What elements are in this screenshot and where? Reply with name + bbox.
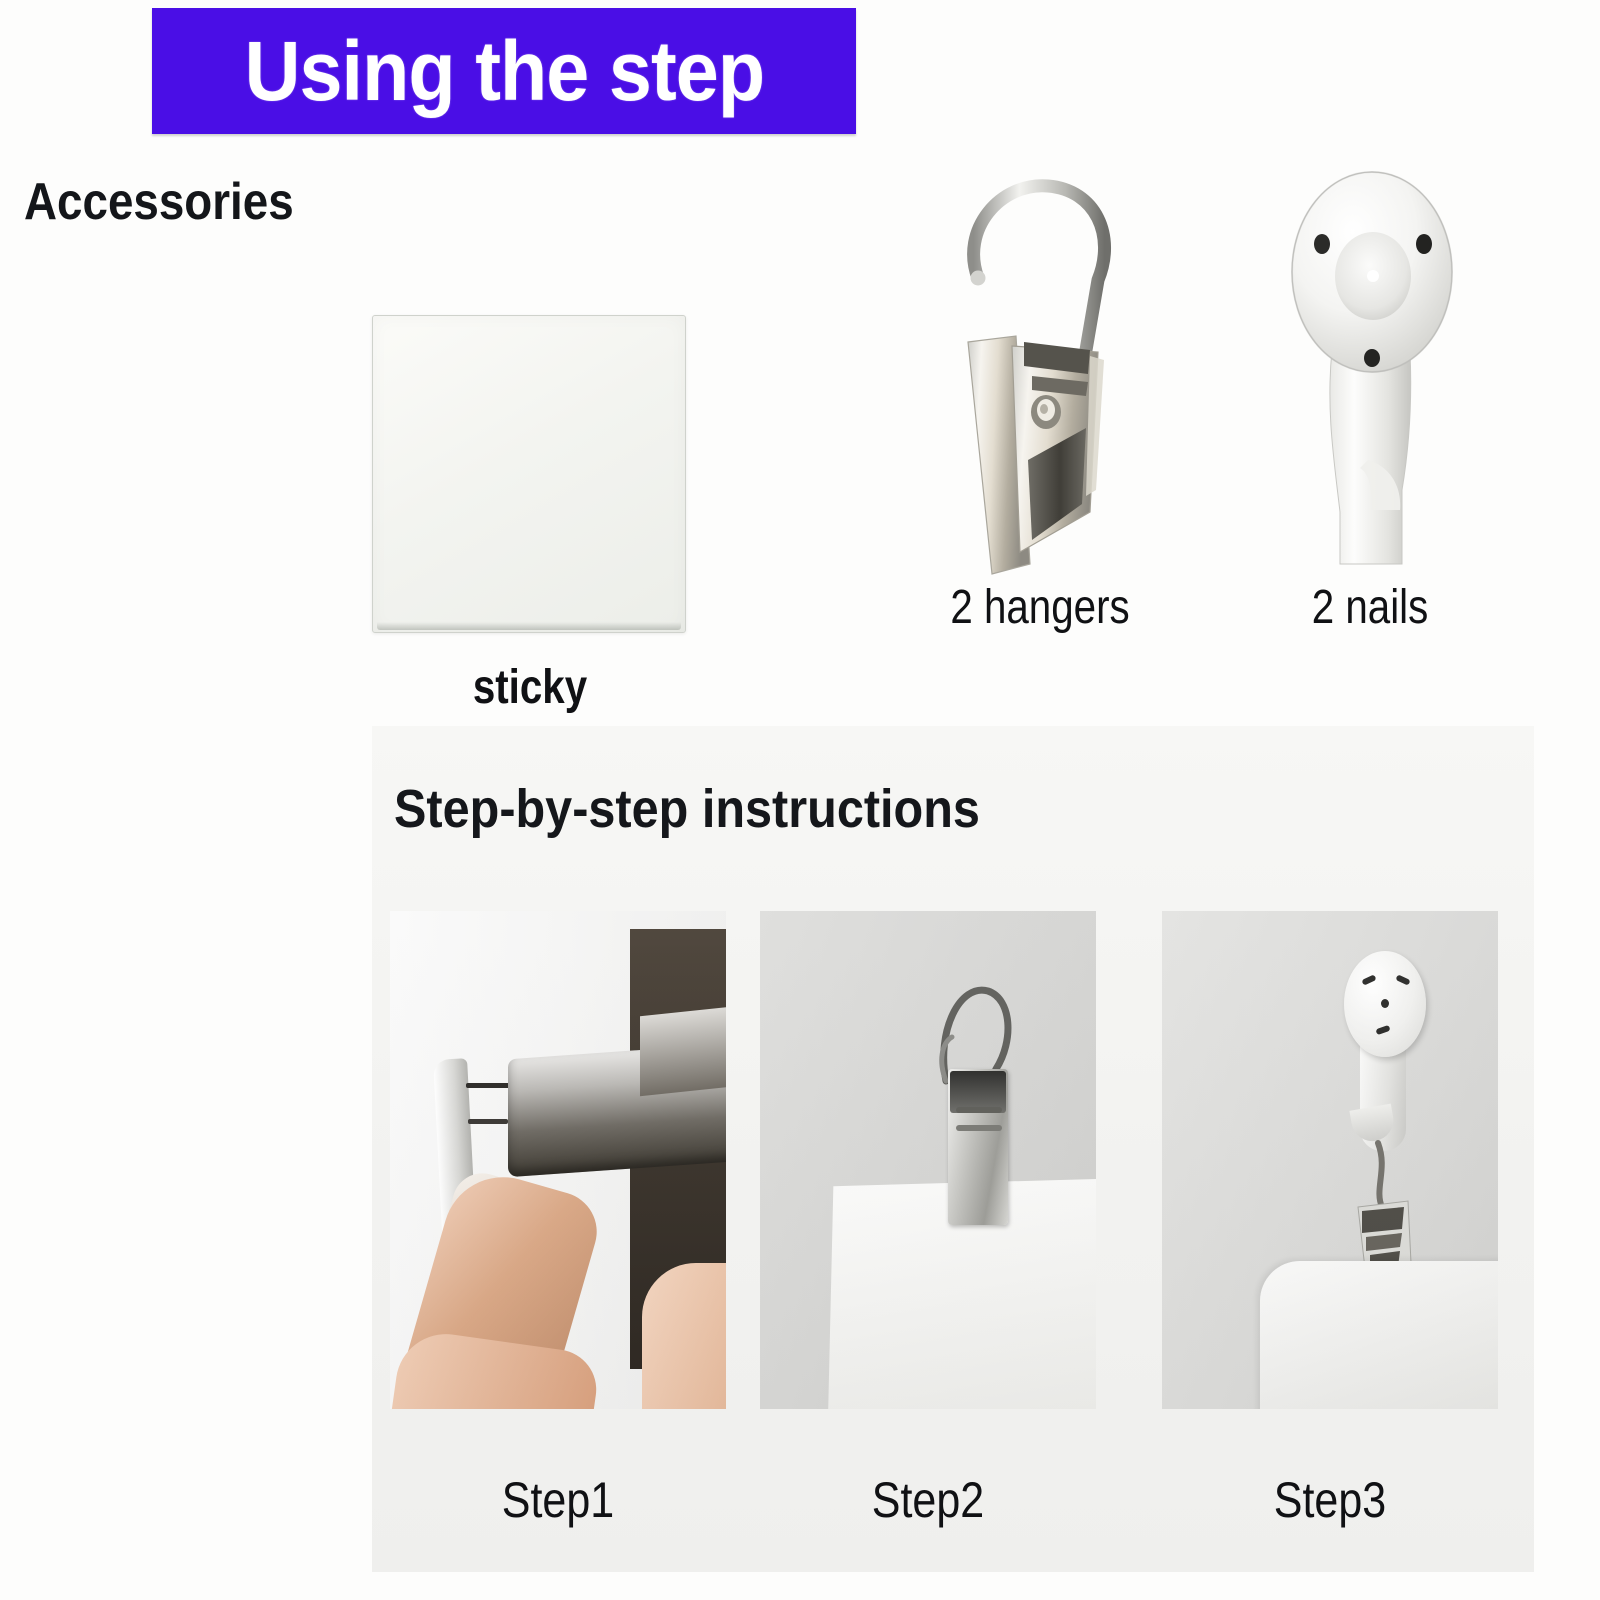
accessory-caption-sticky: sticky: [362, 660, 698, 715]
instructions-heading: Step-by-step instructions: [394, 778, 980, 840]
hanging-fabric: [1260, 1261, 1498, 1409]
step-item-3: Step3: [1162, 911, 1498, 1409]
white-wall-hook-icon: [1260, 160, 1490, 590]
accessory-caption-hangers: 2 hangers: [889, 580, 1191, 635]
step-1-photo: [390, 911, 726, 1409]
step-2-photo: [760, 911, 1096, 1409]
step-item-2: Step2: [760, 911, 1096, 1409]
accessory-caption-nails: 2 nails: [1219, 580, 1521, 635]
finger: [642, 1263, 726, 1409]
title-banner: Using the step: [152, 8, 856, 134]
accessory-item-sticky: sticky: [330, 230, 730, 650]
step-3-photo: [1162, 911, 1498, 1409]
accessory-item-hangers: 2 hangers: [860, 150, 1220, 670]
hammer-handle: [640, 1006, 726, 1097]
accessory-item-nails: 2 nails: [1190, 150, 1550, 670]
adhesive-pad-icon: [372, 315, 686, 633]
accessories-row: sticky: [0, 150, 1600, 670]
step-caption-1: Step1: [414, 1471, 703, 1529]
clip-slot: [956, 1125, 1002, 1131]
nail-icon: [468, 1119, 508, 1124]
steps-row: Step1 Step2: [372, 911, 1534, 1571]
metal-clip-hanger-icon: [920, 160, 1160, 600]
clip-slot: [956, 1107, 1002, 1113]
step-caption-2: Step2: [784, 1471, 1073, 1529]
step-item-1: Step1: [390, 911, 726, 1409]
nail-icon: [466, 1083, 510, 1088]
instructions-panel: Step-by-step instructions Step1: [372, 726, 1534, 1572]
step-caption-3: Step3: [1186, 1471, 1475, 1529]
page-title: Using the step: [244, 23, 764, 120]
